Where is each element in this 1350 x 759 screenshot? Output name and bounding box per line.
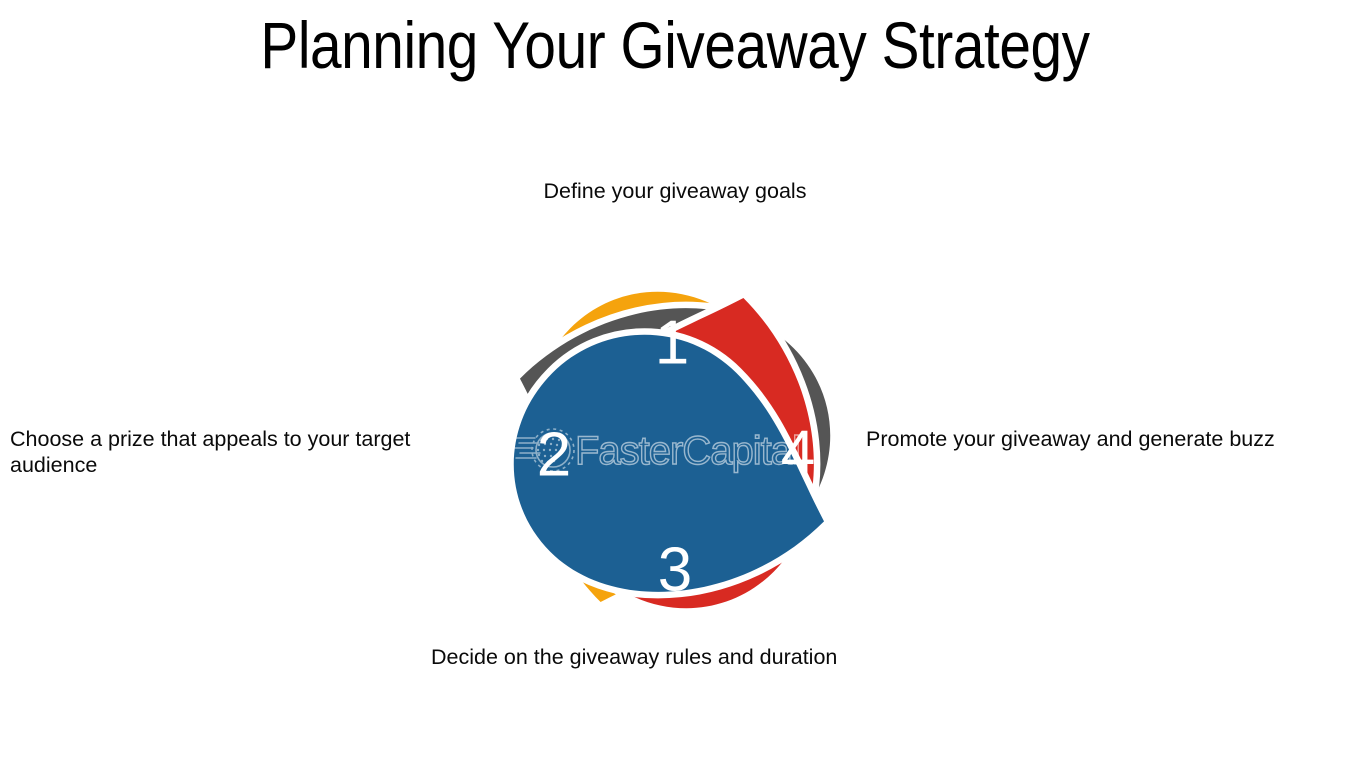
petal-number-3: 3 bbox=[658, 535, 692, 604]
step-label-3: Decide on the giveaway rules and duratio… bbox=[431, 645, 871, 671]
step-label-4: Promote your giveaway and generate buzz bbox=[866, 427, 1336, 453]
page-title: Planning Your Giveaway Strategy bbox=[95, 2, 1256, 88]
pinwheel-svg: 1 2 3 4 bbox=[481, 259, 863, 641]
petal-number-1: 1 bbox=[655, 308, 689, 377]
petal-number-4: 4 bbox=[781, 418, 815, 487]
pinwheel-diagram: 1 2 3 4 bbox=[481, 259, 863, 641]
slide-canvas: Planning Your Giveaway Strategy Define y… bbox=[0, 0, 1350, 759]
petal-number-2: 2 bbox=[537, 420, 571, 489]
step-label-1: Define your giveaway goals bbox=[0, 179, 1350, 205]
step-label-2: Choose a prize that appeals to your targ… bbox=[10, 427, 455, 478]
